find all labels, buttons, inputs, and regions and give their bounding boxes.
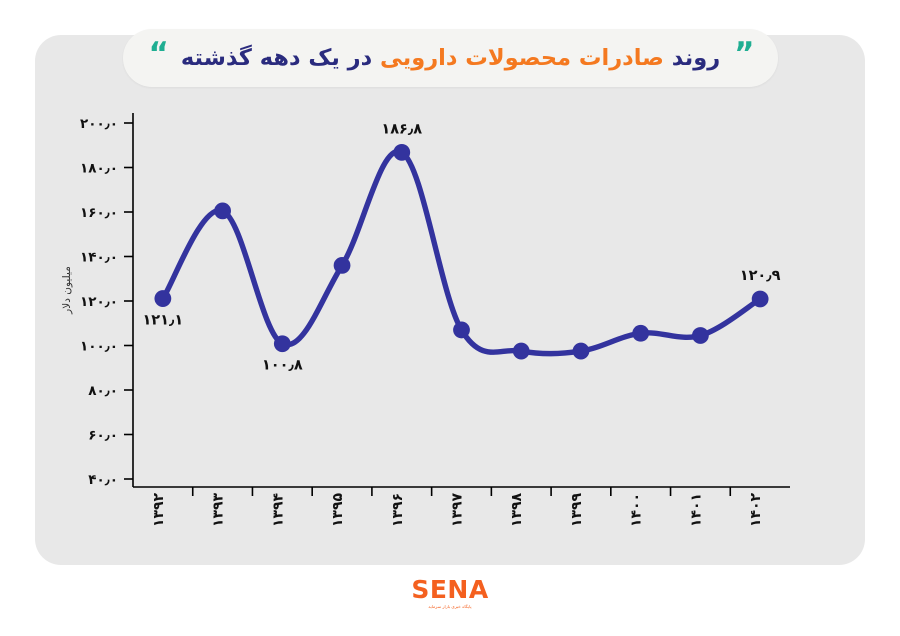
title-segment-right: روند — [672, 45, 720, 71]
data-point-label: ۱۲۱٫۱ — [142, 313, 183, 329]
data-point[interactable] — [513, 343, 530, 360]
x-tick-label: ۱۳۹۴ — [270, 492, 286, 527]
x-tick-label: ۱۴۰۰ — [629, 493, 645, 527]
title-banner: ” روند صادرات محصولات دارویی در یک دهه گ… — [123, 29, 778, 87]
x-tick-label: ۱۳۹۳ — [211, 492, 227, 527]
page-title: روند صادرات محصولات دارویی در یک دهه گذش… — [181, 45, 720, 71]
sena-logo: SENA پایگاه خبری بازار سرمایه — [419, 575, 481, 611]
y-tick-label: ۱۸۰٫۰ — [80, 161, 118, 177]
data-point-label: ۱۰۰٫۸ — [262, 358, 303, 374]
data-point[interactable] — [573, 343, 590, 360]
y-tick-label: ۱۴۰٫۰ — [80, 250, 118, 266]
x-tick-label: ۱۳۹۷ — [450, 492, 466, 527]
data-point[interactable] — [154, 290, 171, 307]
data-point[interactable] — [453, 322, 470, 339]
y-axis-title: میلیون دلار — [61, 266, 73, 315]
y-tick-label: ۱۲۰٫۰ — [80, 294, 118, 310]
chart-container: ۲۰۰٫۰۱۸۰٫۰۱۶۰٫۰۱۴۰٫۰۱۲۰٫۰۱۰۰٫۰۸۰٫۰۶۰٫۰۴۰… — [0, 0, 900, 636]
x-tick-label: ۱۴۰۲ — [748, 492, 764, 527]
y-tick-label: ۲۰۰٫۰ — [80, 116, 118, 132]
logo-wordmark: SENA — [411, 577, 488, 602]
data-point[interactable] — [274, 335, 291, 352]
x-axis-ticks: ۱۳۹۲۱۳۹۳۱۳۹۴۱۳۹۵۱۳۹۶۱۳۹۷۱۳۹۸۱۳۹۹۱۴۰۰۱۴۰۱… — [151, 487, 764, 527]
x-tick-label: ۱۳۹۹ — [569, 492, 585, 527]
data-point[interactable] — [393, 144, 410, 161]
title-segment-middle: صادرات محصولات دارویی — [380, 45, 664, 71]
y-tick-label: ۸۰٫۰ — [88, 383, 118, 399]
y-tick-label: ۴۰٫۰ — [88, 472, 118, 488]
data-point[interactable] — [752, 291, 769, 308]
quote-open-icon: ” — [734, 39, 752, 70]
y-tick-label: ۱۰۰٫۰ — [80, 339, 118, 355]
y-tick-label: ۶۰٫۰ — [88, 428, 118, 444]
x-tick-label: ۱۳۹۲ — [151, 492, 167, 527]
line-chart-svg: ۲۰۰٫۰۱۸۰٫۰۱۶۰٫۰۱۴۰٫۰۱۲۰٫۰۱۰۰٫۰۸۰٫۰۶۰٫۰۴۰… — [0, 0, 900, 636]
x-tick-label: ۱۳۹۵ — [330, 492, 346, 527]
data-point[interactable] — [214, 202, 231, 219]
x-tick-label: ۱۳۹۸ — [509, 492, 525, 527]
logo-tagline: پایگاه خبری بازار سرمایه — [428, 604, 471, 609]
data-point-label: ۱۲۰٫۹ — [740, 268, 781, 284]
data-point-label: ۱۸۶٫۸ — [381, 121, 422, 137]
page-root: ” روند صادرات محصولات دارویی در یک دهه گ… — [0, 0, 900, 636]
x-tick-label: ۱۴۰۱ — [688, 493, 704, 527]
data-point[interactable] — [334, 257, 351, 274]
data-point[interactable] — [692, 327, 709, 344]
y-tick-label: ۱۶۰٫۰ — [80, 205, 118, 221]
title-segment-left: در یک دهه گذشته — [181, 45, 372, 71]
data-point[interactable] — [632, 325, 649, 342]
y-axis-ticks: ۲۰۰٫۰۱۸۰٫۰۱۶۰٫۰۱۴۰٫۰۱۲۰٫۰۱۰۰٫۰۸۰٫۰۶۰٫۰۴۰… — [80, 116, 133, 488]
quote-close-icon: “ — [148, 39, 166, 70]
x-tick-label: ۱۳۹۶ — [390, 493, 406, 527]
